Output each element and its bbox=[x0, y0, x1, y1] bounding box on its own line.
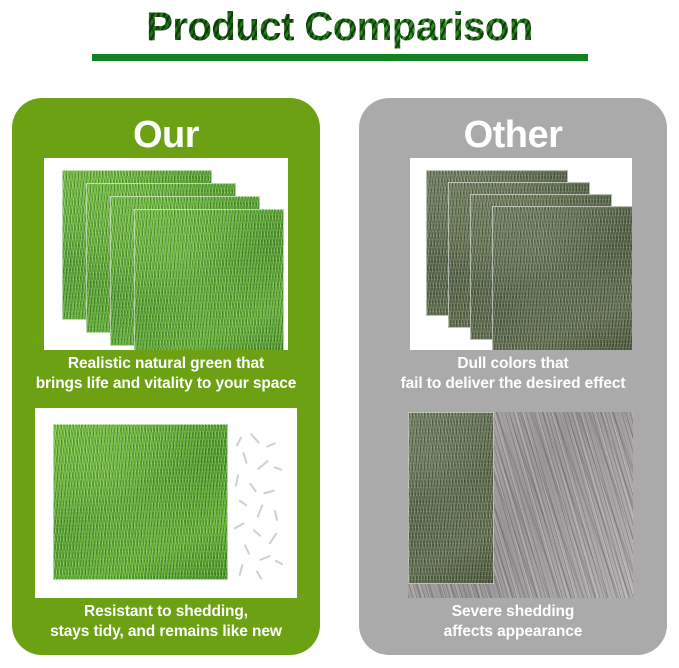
caption-other-top: Dull colors that fail to deliver the des… bbox=[359, 354, 667, 394]
caption-line: stays tidy, and remains like new bbox=[12, 622, 320, 642]
title-underline-bar bbox=[92, 54, 588, 61]
photo-our-shedding-test bbox=[35, 408, 297, 598]
grass-tile bbox=[134, 209, 284, 350]
panel-other: Other Dull colors that fail to deliver t… bbox=[359, 98, 667, 655]
grass-tile bbox=[492, 206, 632, 350]
caption-line: brings life and vitality to your space bbox=[12, 374, 320, 394]
caption-line: fail to deliver the desired effect bbox=[359, 374, 667, 394]
caption-our-bottom: Resistant to shedding, stays tidy, and r… bbox=[12, 602, 320, 642]
panel-other-heading: Other bbox=[359, 112, 667, 158]
grass-swatch bbox=[53, 424, 228, 580]
panel-our-heading: Our bbox=[12, 112, 320, 158]
title-block: Product Comparison bbox=[0, 0, 679, 80]
photo-our-stacked-tiles bbox=[44, 158, 288, 350]
caption-line: affects appearance bbox=[359, 622, 667, 642]
loose-fibers-group bbox=[232, 428, 288, 578]
panel-our: Our Realistic natural green that brings … bbox=[12, 98, 320, 655]
caption-line: Realistic natural green that bbox=[12, 354, 320, 374]
caption-our-top: Realistic natural green that brings life… bbox=[12, 354, 320, 394]
page-title: Product Comparison bbox=[0, 2, 679, 52]
caption-other-bottom: Severe shedding affects appearance bbox=[359, 602, 667, 642]
caption-line: Resistant to shedding, bbox=[12, 602, 320, 622]
photo-other-shedding-floor bbox=[408, 412, 633, 598]
caption-line: Dull colors that bbox=[359, 354, 667, 374]
caption-line: Severe shedding bbox=[359, 602, 667, 622]
turf-strip bbox=[408, 412, 494, 584]
photo-other-stacked-tiles bbox=[410, 158, 632, 350]
